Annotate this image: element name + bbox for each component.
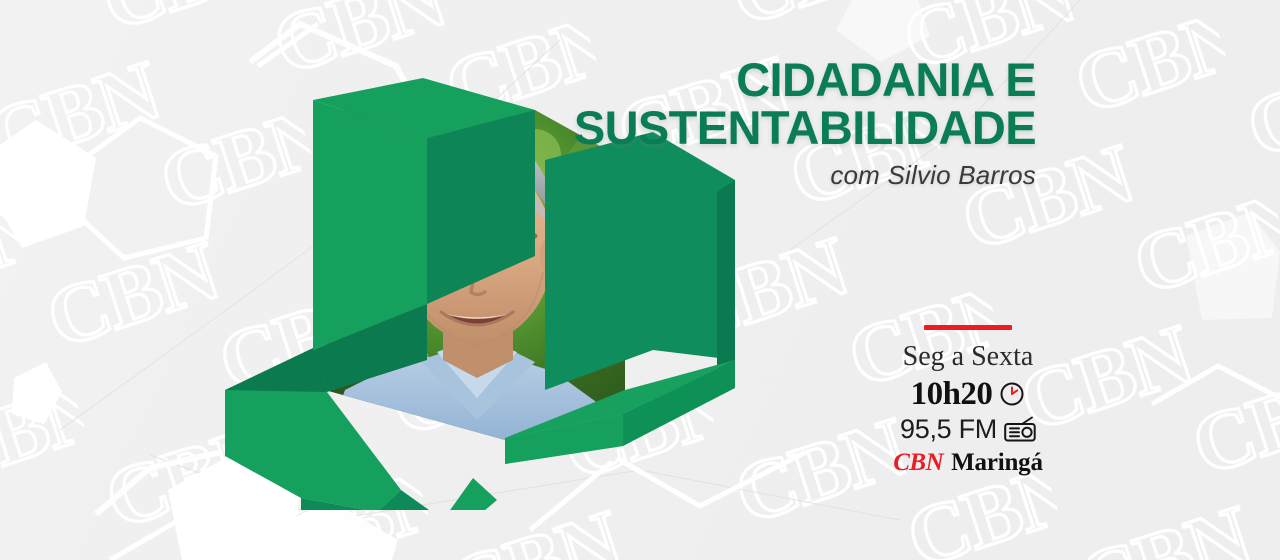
broadcast-days: Seg a Sexta <box>878 343 1058 371</box>
broadcast-frequency: 95,5 FM <box>900 415 997 443</box>
broadcast-time: 10h20 <box>911 377 993 412</box>
program-banner: CBN CBN <box>0 0 1280 560</box>
clock-icon <box>999 381 1025 407</box>
broadcast-info-block: Seg a Sexta 10h20 95,5 FM <box>878 325 1058 477</box>
cbn-maringa-logo: CBN Maringá <box>878 449 1058 477</box>
cbn-city-name: Maringá <box>951 449 1043 477</box>
radio-icon <box>1004 416 1036 442</box>
page-title-line-1: CIDADANIA E <box>396 56 1036 104</box>
page-title-line-2: SUSTENTABILIDADE <box>396 104 1036 152</box>
broadcast-frequency-row: 95,5 FM <box>878 415 1058 443</box>
red-divider <box>924 325 1012 330</box>
program-title-block: CIDADANIA E SUSTENTABILIDADE com Silvio … <box>396 56 1036 191</box>
broadcast-time-row: 10h20 <box>878 377 1058 412</box>
cbn-brand-mark: CBN <box>893 449 943 477</box>
host-subtitle: com Silvio Barros <box>396 160 1036 191</box>
